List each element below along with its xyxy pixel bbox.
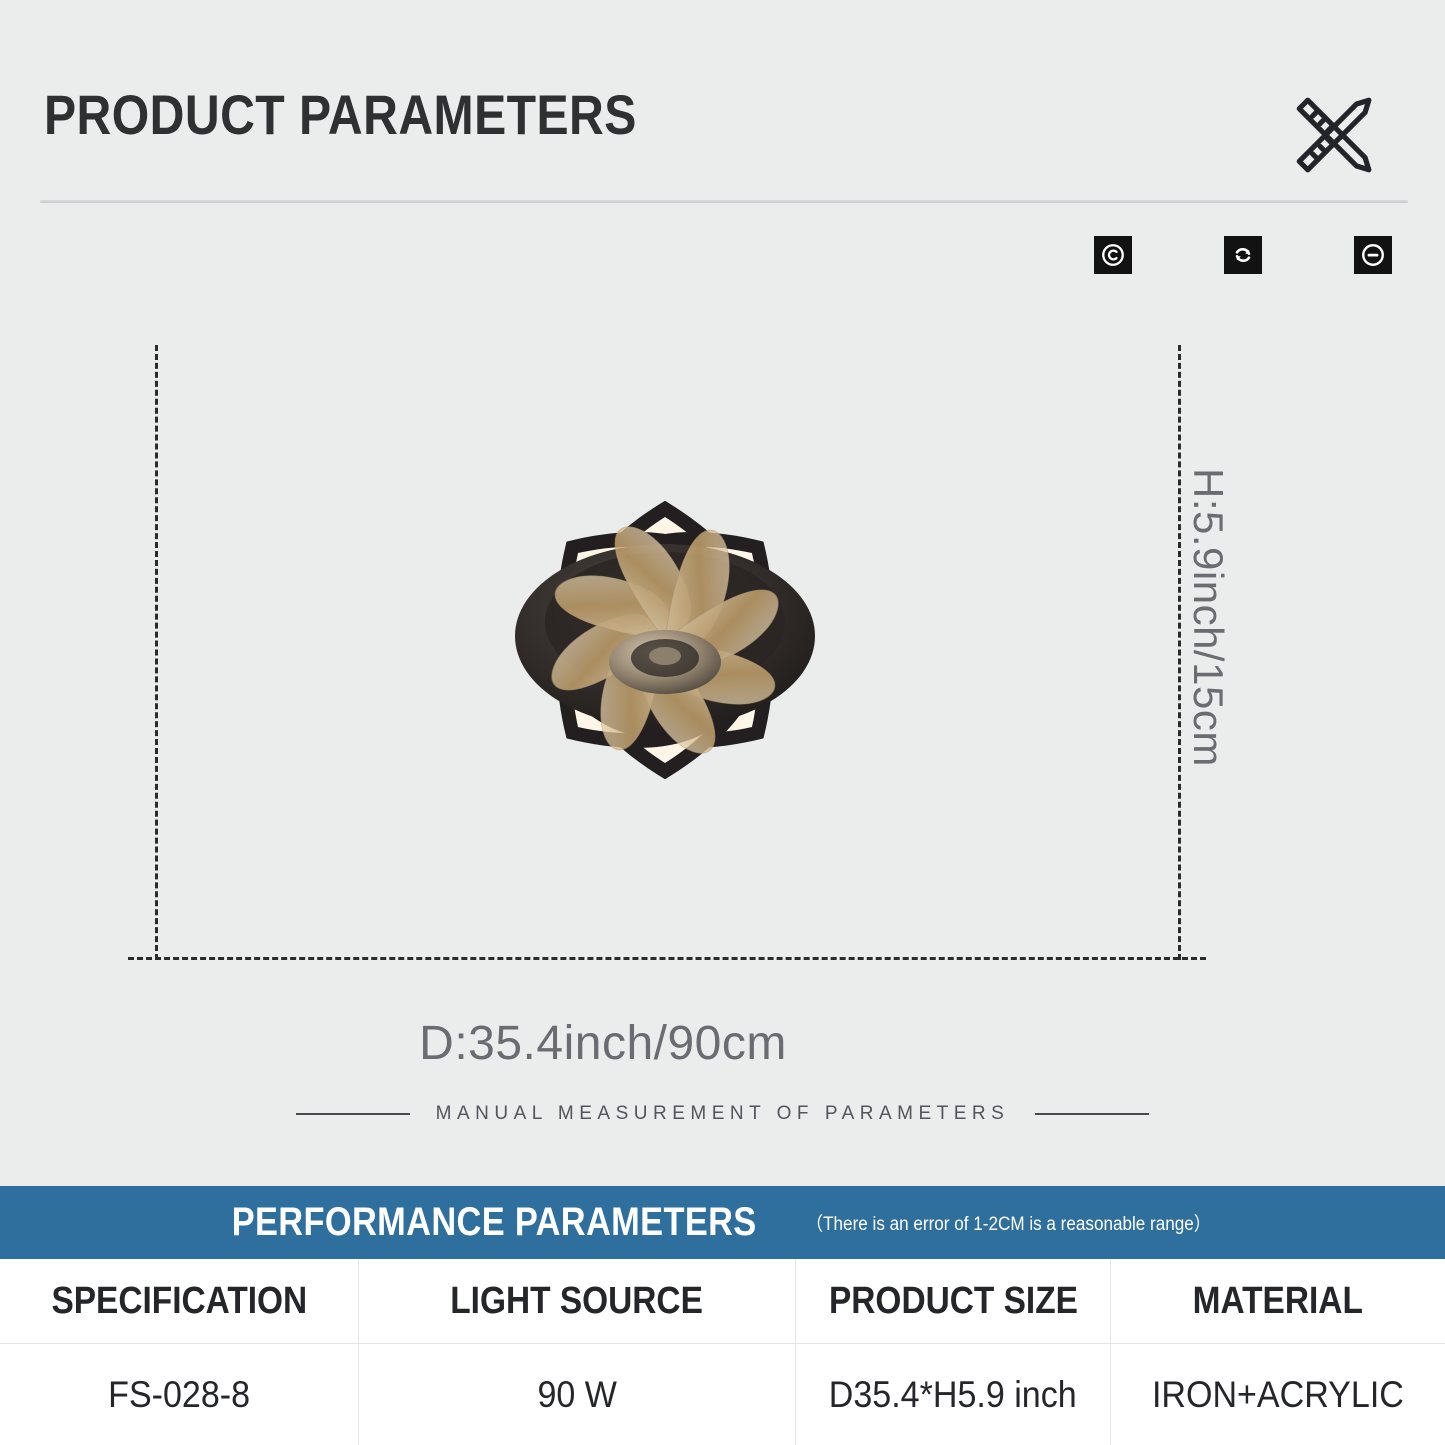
caption-rule-right — [1035, 1113, 1149, 1115]
header-divider — [40, 200, 1408, 203]
caption-rule-left — [296, 1113, 410, 1115]
cell-specification: FS-028-8 — [0, 1344, 358, 1445]
cell-text: D35.4*H5.9 inch — [829, 1374, 1077, 1416]
table-header-row: SPECIFICATION LIGHT SOURCE PRODUCT SIZE … — [0, 1259, 1445, 1344]
pencil-ruler-icon — [1286, 88, 1384, 182]
column-header-specification: SPECIFICATION — [0, 1259, 358, 1343]
table-row: FS-028-8 90 W D35.4*H5.9 inch IRON+ACRYL… — [0, 1344, 1445, 1445]
height-dimension-label: H:5.9inch/15cm — [1184, 468, 1232, 888]
column-header-text: SPECIFICATION — [51, 1280, 307, 1323]
width-dimension-label: D:35.4inch/90cm — [0, 1016, 1206, 1071]
cell-light-source: 90 W — [358, 1344, 795, 1445]
cell-product-size: D35.4*H5.9 inch — [795, 1344, 1110, 1445]
performance-title: PERFORMANCE PARAMETERS — [232, 1200, 757, 1245]
column-header-text: PRODUCT SIZE — [829, 1280, 1078, 1323]
copyright-icon — [1094, 236, 1132, 274]
column-header-material: MATERIAL — [1110, 1259, 1445, 1343]
cell-text: FS-028-8 — [108, 1374, 250, 1416]
caption-text: MANUAL MEASUREMENT OF PARAMETERS — [436, 1103, 1010, 1125]
page-title: PRODUCT PARAMETERS — [44, 82, 637, 147]
column-header-light-source: LIGHT SOURCE — [358, 1259, 795, 1343]
column-header-product-size: PRODUCT SIZE — [795, 1259, 1110, 1343]
product-parameters-section: PRODUCT PARAMETERS — [0, 0, 1445, 1185]
recycle-arrows-icon — [1224, 236, 1262, 274]
cell-text: IRON+ACRYLIC — [1152, 1374, 1404, 1416]
dimension-line-bottom — [128, 957, 1206, 960]
performance-note: （There is an error of 1-2CM is a reasona… — [806, 1209, 1211, 1236]
specification-table: SPECIFICATION LIGHT SOURCE PRODUCT SIZE … — [0, 1259, 1445, 1445]
column-header-text: LIGHT SOURCE — [451, 1280, 704, 1323]
no-entry-icon — [1354, 236, 1392, 274]
product-illustration — [150, 300, 1180, 960]
performance-parameters-banner: PERFORMANCE PARAMETERS （There is an erro… — [0, 1186, 1445, 1259]
manual-measurement-caption: MANUAL MEASUREMENT OF PARAMETERS — [0, 1103, 1445, 1125]
cell-text: 90 W — [537, 1374, 616, 1416]
column-header-text: MATERIAL — [1193, 1280, 1363, 1323]
dimension-line-left — [155, 345, 158, 960]
cell-material: IRON+ACRYLIC — [1110, 1344, 1445, 1445]
dimension-line-right — [1178, 345, 1181, 960]
